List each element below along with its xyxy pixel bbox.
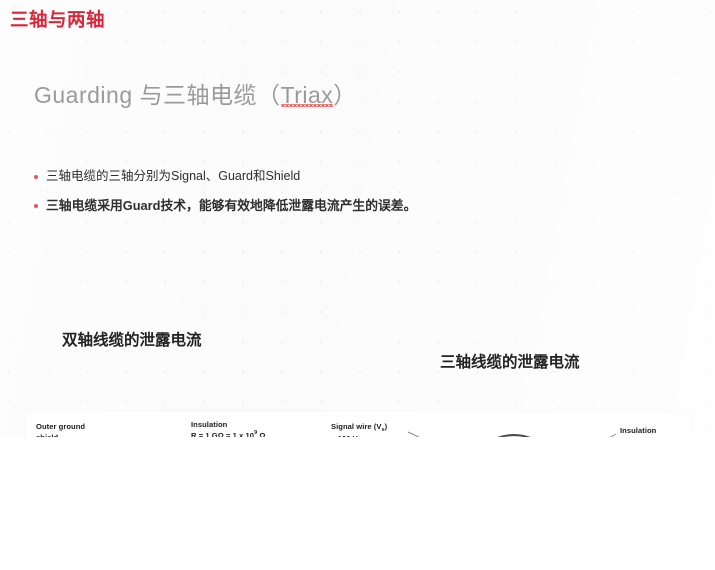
triax-figure: Signal wire (Vs) = 100 V Conductive guar…	[326, 412, 690, 437]
label-line-2: shield	[36, 433, 58, 438]
page-title: 三轴与两轴	[10, 6, 715, 32]
subtitle-spellcheck-term: Triax	[281, 82, 334, 108]
bullet-list: 三轴电缆的三轴分别为Signal、Guard和Shield 三轴电缆采用Guar…	[34, 168, 674, 214]
subtitle-prefix: Guarding 与三轴电缆（	[34, 82, 281, 108]
label-line-2: = 100 V	[331, 434, 358, 438]
left-column-heading: 双轴线缆的泄露电流	[62, 328, 715, 350]
slide-canvas: 三轴与两轴 Guarding 与三轴电缆（Triax） 三轴电缆的三轴分别为Si…	[0, 0, 715, 437]
bullet-dot-icon	[34, 175, 38, 179]
coax-figure: Outer ground shield Insulation R = 1 GΩ …	[26, 412, 326, 437]
bullet-dot-icon	[34, 204, 38, 208]
label-line-1: Insulation	[620, 426, 656, 435]
figures-panel: Outer ground shield Insulation R = 1 GΩ …	[26, 412, 690, 437]
list-item: 三轴电缆的三轴分别为Signal、Guard和Shield	[34, 168, 674, 185]
bullet-text: 三轴电缆的三轴分别为Signal、Guard和Shield	[46, 168, 300, 185]
triax-label-signal-wire: Signal wire (Vs) = 100 V	[331, 422, 387, 437]
coax-label-outer-ground-shield: Outer ground shield	[36, 422, 85, 437]
label-line-1b: )	[385, 422, 388, 431]
label-line-1: Outer ground	[36, 422, 85, 431]
label-line-1a: Signal wire (V	[331, 422, 382, 431]
label-line-1: Insulation	[191, 420, 227, 429]
coax-label-insulation: Insulation R = 1 GΩ = 1 x 109 Ω	[191, 420, 266, 437]
bullet-text: 三轴电缆采用Guard技术，能够有效地降低泄露电流产生的误差。	[46, 197, 416, 214]
slide-subtitle: Guarding 与三轴电缆（Triax）	[34, 76, 715, 110]
right-column-heading: 三轴线缆的泄露电流	[440, 350, 715, 372]
label-line-2a: R = 1 GΩ = 1 x 10	[191, 431, 254, 438]
label-line-2b: Ω	[257, 431, 265, 438]
label-subscript: s	[382, 427, 385, 433]
label-exponent: 9	[254, 430, 257, 436]
triax-label-insulation: Insulation R = 1 GΩ = 1 x 109 Ω	[620, 426, 673, 437]
list-item: 三轴电缆采用Guard技术，能够有效地降低泄露电流产生的误差。	[34, 197, 674, 214]
label-line-2: R = 1 GΩ	[620, 437, 653, 438]
subtitle-suffix: ）	[333, 82, 357, 108]
